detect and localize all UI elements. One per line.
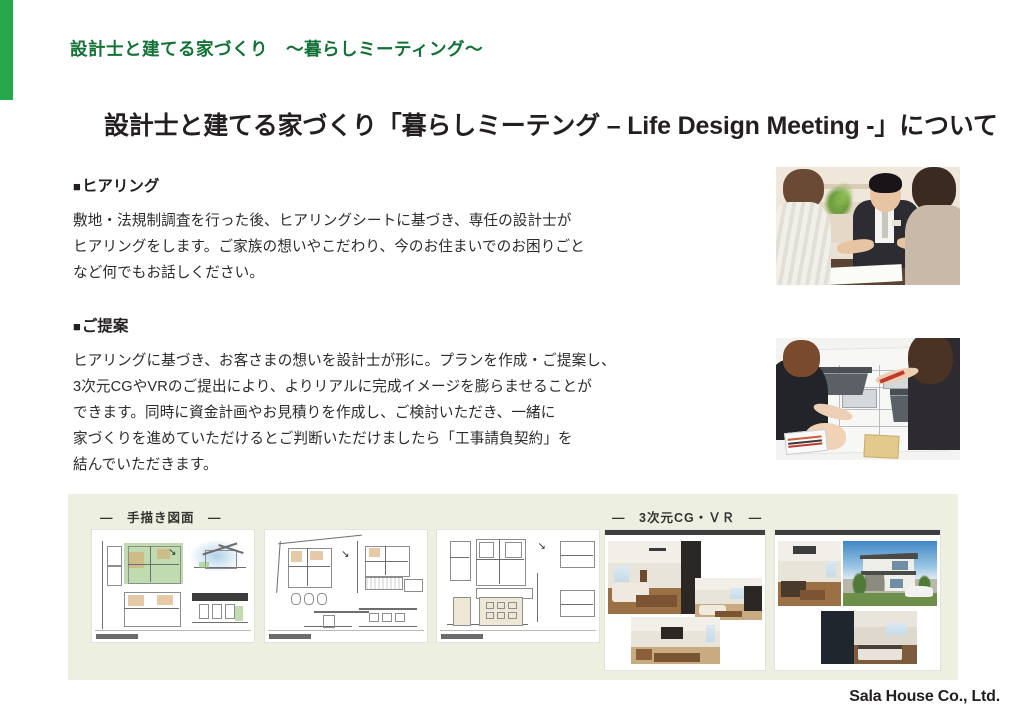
square-bullet-icon: ■ xyxy=(73,179,81,194)
sketch-sheet-1: ↘ xyxy=(92,530,254,642)
eyebrow-heading: 設計士と建てる家づくり ～暮らしミーティング～ xyxy=(70,36,483,61)
cg-exterior-house xyxy=(843,541,937,605)
blueprint-photo-art xyxy=(776,338,960,460)
section-heading-hearing-label: ヒアリング xyxy=(82,178,160,195)
cg-interior-bedroom xyxy=(821,611,917,664)
cg-interior-living xyxy=(608,541,701,614)
board-top-bar xyxy=(775,530,940,535)
square-bullet-icon: ■ xyxy=(73,319,81,334)
sketch-sheet-2: ↘ xyxy=(265,530,427,642)
section-body-hearing: 敷地・法規制調査を行った後、ヒアリングシートに基づき、専任の設計士が ヒアリング… xyxy=(73,208,693,286)
page-title: 設計士と建てる家づくり「暮らしミーテング – Life Design Meeti… xyxy=(104,106,998,142)
blueprint-photo xyxy=(776,338,960,460)
board-top-bar xyxy=(605,530,765,535)
consultation-photo xyxy=(776,167,960,285)
footer-brand: Sala House Co., Ltd. xyxy=(849,688,1000,706)
section-body-proposal: ヒアリングに基づき、お客さまの想いを設計士が形に。プランを作成・ご提案し、 3次… xyxy=(73,348,713,478)
accent-bar xyxy=(0,0,13,100)
section-heading-hearing: ■ヒアリング xyxy=(73,174,159,196)
gallery-label-cg: ― 3次元CG・ＶＲ ― xyxy=(612,507,762,526)
cg-interior-dining xyxy=(695,578,762,620)
sketch-sheet-3: ↘ xyxy=(437,530,599,642)
cg-interior-kitchen xyxy=(631,617,721,665)
slide-root: 設計士と建てる家づくり ～暮らしミーティング～ 設計士と建てる家づくり「暮らしミ… xyxy=(0,0,1024,724)
cg-interior-lounge xyxy=(778,541,841,605)
cg-board-2 xyxy=(775,530,940,670)
section-heading-proposal: ■ご提案 xyxy=(73,314,128,336)
consultation-photo-art xyxy=(776,167,960,285)
section-heading-proposal-label: ご提案 xyxy=(82,318,129,335)
cg-board-1 xyxy=(605,530,765,670)
gallery-label-sketch: ― 手描き図面 ― xyxy=(100,507,222,526)
